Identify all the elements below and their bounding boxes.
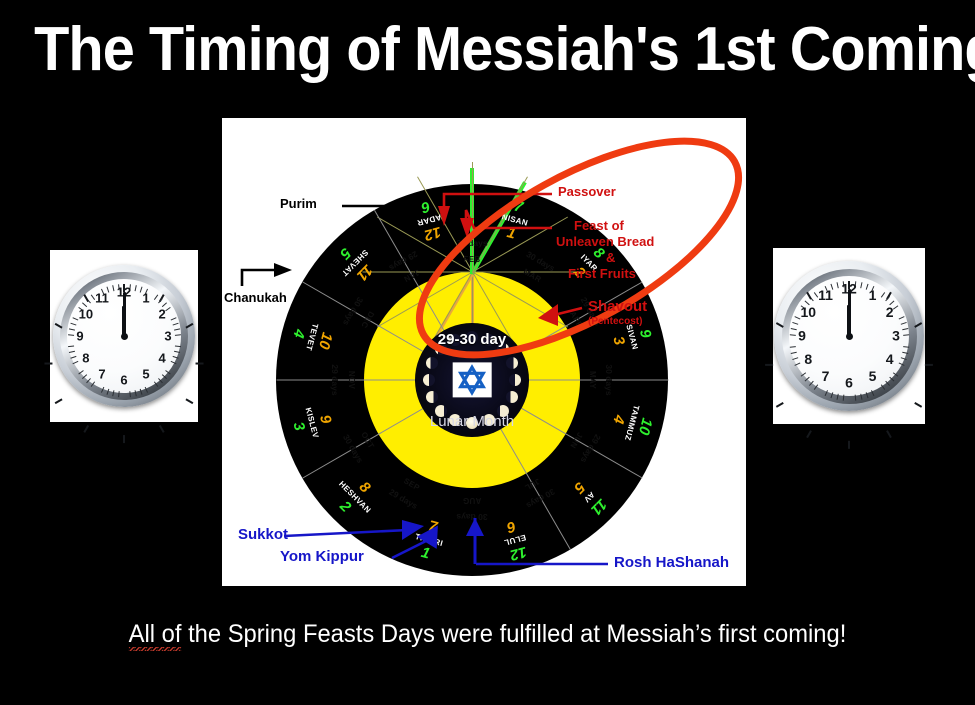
caption-misspelled-segment: All of [129, 620, 182, 651]
label-shavout: Shavout [588, 298, 647, 315]
clock-numeral: 7 [822, 370, 830, 383]
minute-hand [123, 292, 126, 336]
clock-numeral: 2 [886, 306, 894, 319]
clock-numeral: 7 [98, 368, 105, 381]
clock-numeral: 9 [76, 330, 83, 343]
annotation-leader-lines [222, 118, 746, 586]
label-purim: Purim [280, 196, 317, 211]
clock-numeral: 9 [798, 330, 806, 343]
label-unleaven-bread: Unleaven Bread [556, 234, 654, 249]
clock-numeral: 5 [869, 370, 877, 383]
slide-caption: All of the Spring Feasts Days were fulfi… [24, 618, 950, 650]
right-clock-photo: 121234567891011 [773, 248, 925, 424]
label-rosh-hashanah: Rosh HaShanah [614, 554, 729, 571]
clock-numeral: 8 [804, 353, 812, 366]
clock-numeral: 1 [869, 289, 877, 302]
analog-clock-left: 121234567891011 [53, 265, 195, 407]
clock-numeral: 10 [801, 306, 817, 319]
label-shavout-pentecost: (Pentecost) [588, 316, 642, 327]
clock-center-pin [121, 333, 128, 340]
clock-numeral: 10 [79, 308, 93, 321]
clock-numeral: 11 [95, 291, 109, 304]
analog-clock-right: 121234567891011 [774, 261, 924, 411]
clock-center-pin [846, 333, 853, 340]
clock-numeral: 8 [82, 352, 89, 365]
calendar-diagram-card: 7NISAN18IYAR29SIVAN310TAMMUZ411AV512ELUL… [222, 118, 746, 586]
label-first-fruits: First Fruits [568, 266, 636, 281]
left-clock-photo: 121234567891011 [50, 250, 198, 422]
clock-numeral: 1 [142, 291, 149, 304]
minute-hand [848, 289, 851, 336]
clock-numeral: 6 [845, 377, 853, 390]
clock-numeral: 3 [164, 330, 171, 343]
slide-root: The Timing of Messiah's 1st Coming 12123… [0, 0, 975, 705]
label-feast-of: Feast of [574, 218, 624, 233]
label-sukkot: Sukkot [238, 526, 288, 543]
clock-numeral: 4 [158, 352, 165, 365]
label-passover: Passover [558, 184, 616, 199]
clock-numeral: 5 [142, 368, 149, 381]
page-title: The Timing of Messiah's 1st Coming [34, 14, 941, 86]
label-chanukah: Chanukah [224, 290, 287, 305]
caption-rest: the Spring Feasts Days were fulfilled at… [181, 620, 846, 648]
clock-numeral: 4 [886, 353, 894, 366]
clock-numeral: 2 [158, 308, 165, 321]
label-ampersand: & [606, 250, 615, 265]
clock-numeral: 3 [892, 330, 900, 343]
clock-numeral: 11 [818, 289, 833, 302]
label-yom-kippur: Yom Kippur [280, 548, 364, 565]
clock-numeral: 6 [120, 374, 127, 387]
